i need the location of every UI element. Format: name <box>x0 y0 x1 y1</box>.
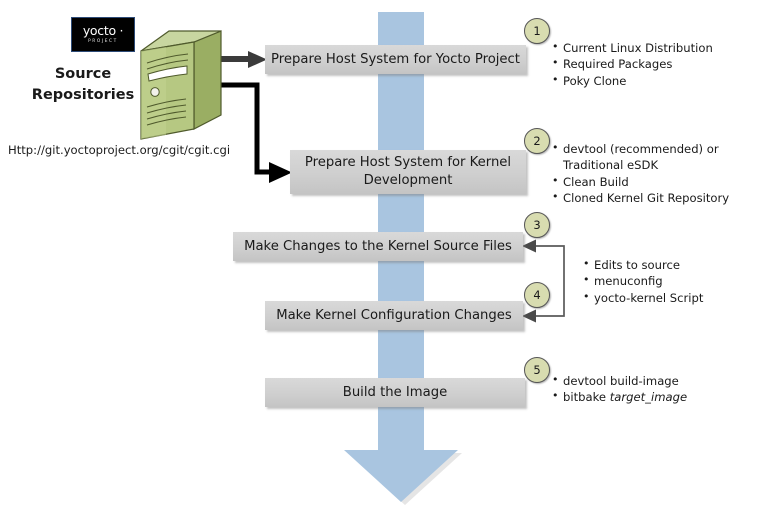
step-number-1: 1 <box>524 18 550 44</box>
step-number-5-text: 5 <box>533 363 540 377</box>
shared-bullet-0: Edits to source <box>583 257 763 273</box>
step-box-2[interactable]: Prepare Host System for Kernel Developme… <box>290 150 526 194</box>
step-1-bullet-0: Current Linux Distribution <box>552 40 757 56</box>
step-1-bullet-2: Poky Clone <box>552 73 757 89</box>
step-number-2-text: 2 <box>533 134 540 148</box>
connector-source-to-step1 <box>214 49 270 71</box>
shared-bullet-1: menuconfig <box>583 273 763 289</box>
step-box-3-label: Make Changes to the Kernel Source Files <box>244 238 512 256</box>
yocto-logo-subtitle: PROJECT <box>88 40 118 44</box>
step-box-3[interactable]: Make Changes to the Kernel Source Files <box>233 232 523 261</box>
server-tower-icon <box>136 29 222 141</box>
step-1-bullet-1: Required Packages <box>552 56 757 72</box>
shared-bullet-2: yocto-kernel Script <box>583 290 763 306</box>
flow-arrow-head-icon <box>344 450 458 502</box>
yocto-project-logo: yocto · PROJECT <box>71 17 135 52</box>
step-box-1-label: Prepare Host System for Yocto Project <box>271 51 520 69</box>
diagram-canvas: yocto · PROJECT Source Repositories Http… <box>0 0 769 517</box>
yocto-logo-wordmark: yocto · <box>83 25 123 38</box>
step-box-5-label: Build the Image <box>343 384 447 402</box>
step-box-5[interactable]: Build the Image <box>265 378 525 407</box>
step-number-3-text: 3 <box>533 218 540 232</box>
step-number-5: 5 <box>524 357 550 383</box>
step-2-bullets: devtool (recommended) or Traditional eSD… <box>552 141 764 207</box>
source-repositories-url: Http://git.yoctoproject.org/cgit/cgit.cg… <box>8 143 230 157</box>
step-5-bullet-1: bitbake target_image <box>552 389 752 405</box>
step-2-bullet-1: Clean Build <box>552 174 764 190</box>
step-5-bullets: devtool build-image bitbake target_image <box>552 373 752 406</box>
step-2-bullet-0: devtool (recommended) or Traditional eSD… <box>552 141 764 174</box>
step-box-4-label: Make Kernel Configuration Changes <box>276 307 512 325</box>
step-box-2-label: Prepare Host System for Kernel Developme… <box>290 154 526 190</box>
connector-source-to-step2 <box>212 76 297 184</box>
step-number-3: 3 <box>524 212 550 238</box>
step-number-2: 2 <box>524 128 550 154</box>
connector-bracket-step3-step4 <box>519 238 571 324</box>
step-number-4-text: 4 <box>533 288 540 302</box>
step-5-bullet-0: devtool build-image <box>552 373 752 389</box>
step-box-1[interactable]: Prepare Host System for Yocto Project <box>265 45 526 74</box>
step-3-4-shared-bullets: Edits to source menuconfig yocto-kernel … <box>583 257 763 306</box>
step-5-bullet-1-text: bitbake target_image <box>563 390 687 404</box>
step-number-1-text: 1 <box>533 24 540 38</box>
step-number-4: 4 <box>524 282 550 308</box>
step-1-bullets: Current Linux Distribution Required Pack… <box>552 40 757 89</box>
step-2-bullet-2: Cloned Kernel Git Repository <box>552 190 764 206</box>
source-repositories-label: Source Repositories <box>24 64 142 106</box>
step-box-4[interactable]: Make Kernel Configuration Changes <box>265 301 523 330</box>
